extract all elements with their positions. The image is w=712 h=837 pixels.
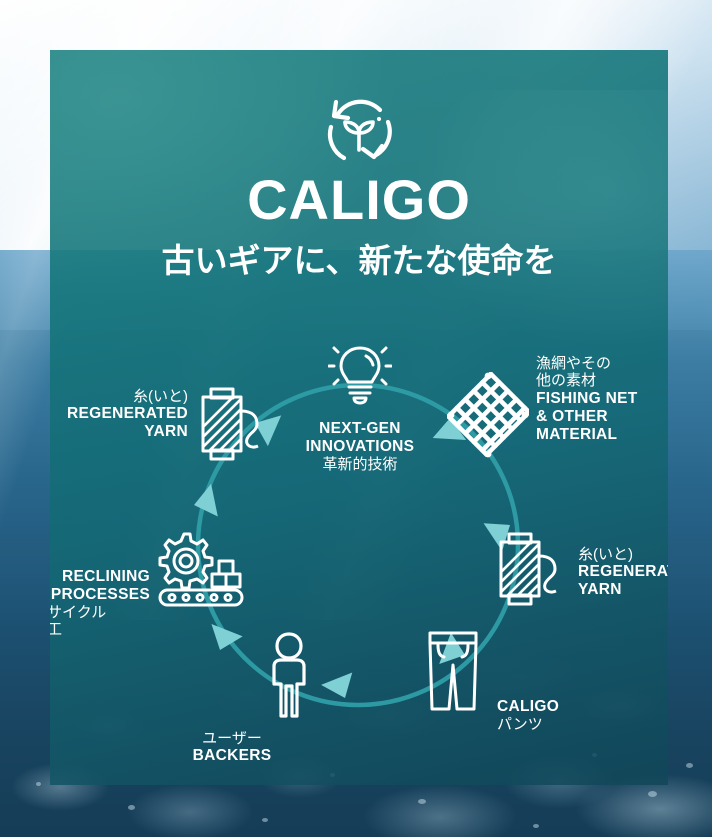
label-en-line1: REGENERATED [60,405,188,423]
label-en-line1: FISHING NET [536,390,666,408]
label-jp-line1: リサイクル [50,604,150,621]
label-jp-line2: 他の素材 [536,372,666,389]
label-en-line3: MATERIAL [536,426,666,444]
label-en: BACKERS [172,747,292,765]
label-backers: ユーザー BACKERS [172,730,292,765]
label-en-line2: & OTHER [536,408,666,426]
label-regenerated-yarn-left: 糸(いと) REGENERATED YARN [60,388,188,441]
label-en-line2: INNOVATIONS [276,438,444,456]
label-en-line1: NEXT-GEN [276,420,444,438]
label-next-gen-innovations: NEXT-GEN INNOVATIONS 革新的技術 [276,420,444,473]
label-en-line2: YARN [578,581,668,599]
label-jp: ユーザー [172,730,292,747]
label-en: CALIGO [497,698,607,716]
label-caligo-pants: CALIGO パンツ [497,698,607,733]
label-jp-line1: 漁網やその [536,355,666,372]
label-jp-line2: 加工 [50,621,150,638]
label-jp: パンツ [497,716,607,733]
label-en-line1: RECLINING [50,568,150,586]
label-fishing-net-material: 漁網やその 他の素材 FISHING NET & OTHER MATERIAL [536,355,666,444]
content-panel: CALIGO 古いギアに、新たな使命を [50,50,668,785]
label-jp: 糸(いと) [60,388,188,405]
label-reclining-processes: RECLINING PROCESSES リサイクル 加工 [50,568,150,639]
label-en-line1: REGENERATED [578,563,668,581]
label-jp: 革新的技術 [276,456,444,473]
label-jp: 糸(いと) [578,546,668,563]
label-en-line2: PROCESSES [50,586,150,604]
label-en-line2: YARN [60,423,188,441]
caligo-lifecycle-diagram: NEXT-GEN INNOVATIONS 革新的技術 [50,50,668,785]
label-regenerated-yarn-right: 糸(いと) REGENERATED YARN [578,546,668,599]
